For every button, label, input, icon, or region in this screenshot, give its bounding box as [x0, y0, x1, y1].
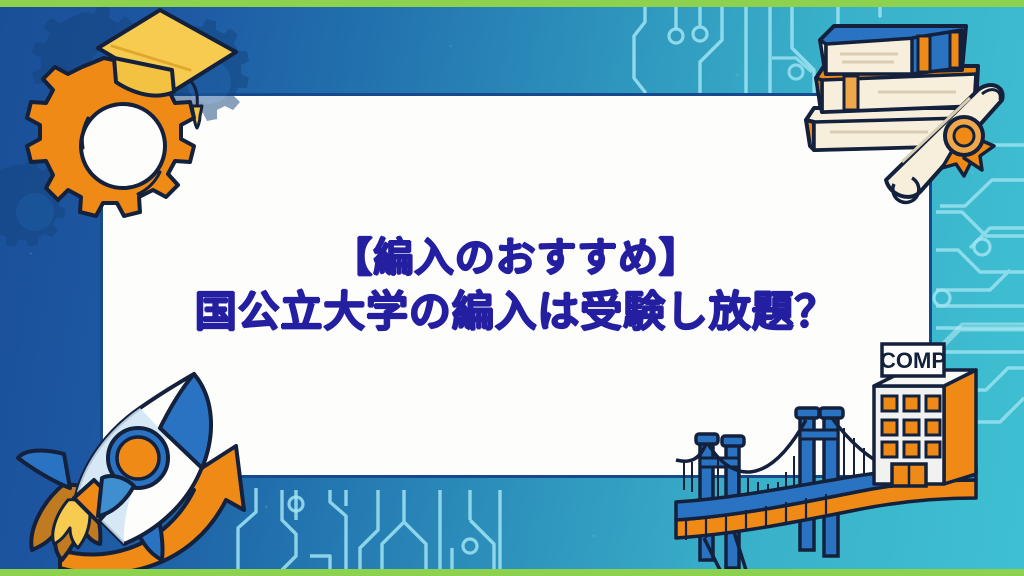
office-building-icon: COMP [874, 344, 976, 486]
decoration-bottom-left [0, 364, 298, 574]
top-green-strip [0, 0, 1024, 7]
title-card-canvas: 【編入のおすすめ】 国公立大学の編入は受験し放題？ [0, 0, 1024, 576]
page-title: 【編入のおすすめ】 国公立大学の編入は受験し放題？ [103, 231, 929, 339]
circuit-node-dots [934, 239, 990, 306]
wax-seal-icon [942, 117, 994, 176]
blue-book-icon [820, 26, 966, 74]
decoration-top-right [778, 0, 1024, 224]
title-line-1: 【編入のおすすめ】 [103, 231, 929, 284]
decoration-bottom-right: COMP [676, 332, 1024, 572]
decoration-top-left [0, 0, 262, 236]
building-sign-label: COMP [880, 348, 946, 373]
bottom-green-strip [0, 569, 1024, 576]
